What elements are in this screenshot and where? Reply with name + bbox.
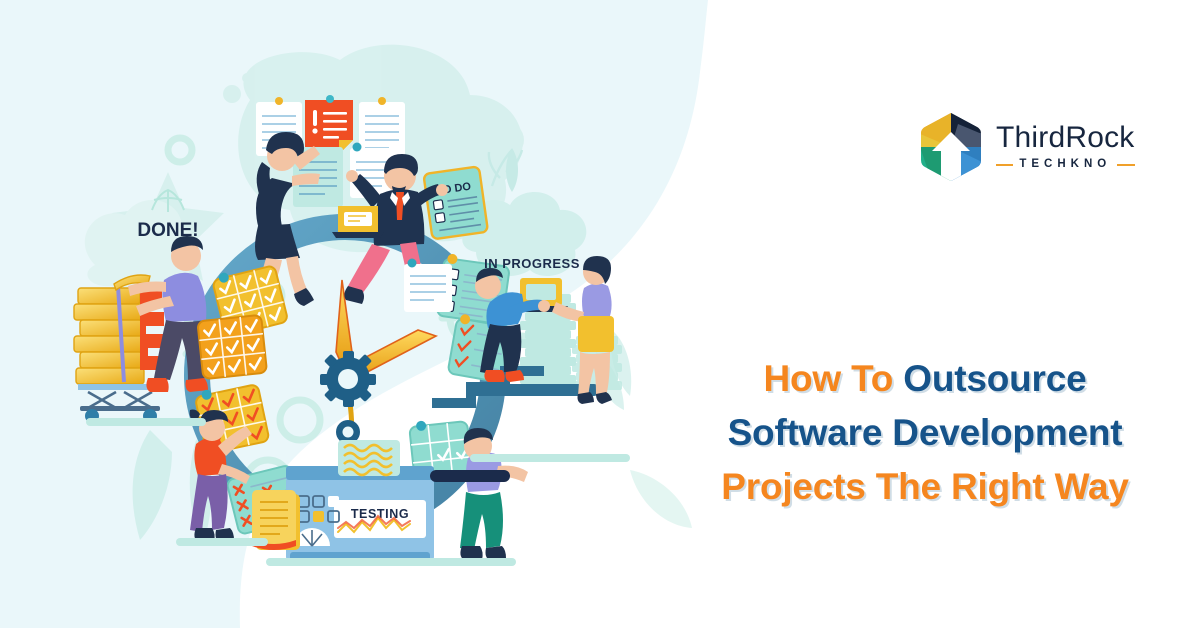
lined-note <box>359 97 405 156</box>
banner-canvas: TO DO <box>0 0 1200 628</box>
headline-line-2: Software Development <box>690 406 1160 460</box>
headline-seg-how-to: How To <box>764 358 904 399</box>
brand-tagline-row: TECHKNO <box>996 159 1135 171</box>
alert-note <box>305 95 353 154</box>
brand-name: ThirdRock <box>996 123 1135 153</box>
headline-seg-projects-right-way: Projects The Right Way <box>721 466 1128 507</box>
thirdrock-hex-mark-icon <box>920 112 982 182</box>
headline-block: How To Outsource Software Development Pr… <box>690 352 1160 514</box>
headline-line-1: How To Outsource <box>690 352 1160 406</box>
brand-tagline: TECHKNO <box>1019 159 1111 171</box>
headline-line-3: Projects The Right Way <box>690 460 1160 514</box>
brand-logo[interactable]: ThirdRock TECHKNO <box>920 112 1135 182</box>
gear-pivot-icon <box>320 351 376 444</box>
gold-stack <box>74 275 166 423</box>
tagline-rule-right <box>1117 164 1134 166</box>
in-progress-label: IN PROGRESS <box>484 256 580 271</box>
laptop-icon <box>332 206 384 238</box>
tagline-rule-left <box>996 164 1013 166</box>
todo-card: TO DO <box>423 166 488 239</box>
headline-seg-software-development: Software Development <box>728 412 1123 453</box>
headline-seg-outsource: Outsource <box>903 358 1086 399</box>
brand-wordmark: ThirdRock TECHKNO <box>996 123 1135 171</box>
project-lifecycle-illustration: TO DO <box>0 0 700 628</box>
testing-machine: TESTING <box>252 440 434 564</box>
